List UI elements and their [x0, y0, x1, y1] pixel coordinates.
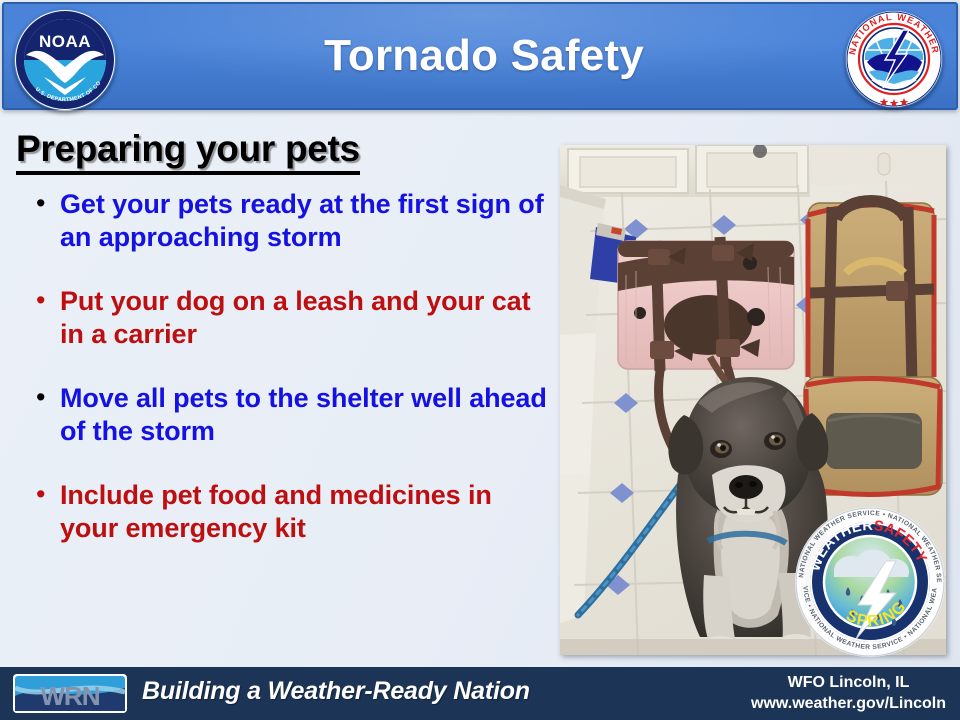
national-weather-service-logo: NATIONAL WEATHER SERVICE: [845, 10, 943, 108]
section-heading: Preparing your pets: [16, 128, 360, 175]
list-item: • Get your pets ready at the first sign …: [36, 188, 556, 254]
list-item: • Include pet food and medicines in your…: [36, 479, 556, 545]
svg-text:WRN: WRN: [40, 681, 99, 711]
footer-website[interactable]: www.weather.gov/Lincoln: [751, 693, 946, 714]
footer-office-name: WFO Lincoln, IL: [751, 672, 946, 693]
bullet-marker-icon: •: [36, 479, 60, 510]
slide-footer: WRN WRN Building a Weather-Ready Nation …: [0, 667, 960, 720]
list-item: • Move all pets to the shelter well ahea…: [36, 382, 556, 448]
svg-text:NOAA: NOAA: [39, 32, 91, 51]
slide-header: NOAA NATIONAL OCEANIC AND ATMOSPHERIC AD…: [2, 2, 958, 110]
bullet-marker-icon: •: [36, 382, 60, 413]
list-item-label: Get your pets ready at the first sign of…: [60, 188, 556, 254]
bullet-marker-icon: •: [36, 188, 60, 219]
slide: NOAA NATIONAL OCEANIC AND ATMOSPHERIC AD…: [0, 0, 960, 720]
footer-tagline: Building a Weather-Ready Nation: [142, 677, 530, 706]
list-item-label: Include pet food and medicines in your e…: [60, 479, 556, 545]
list-item-label: Move all pets to the shelter well ahead …: [60, 382, 556, 448]
noaa-logo: NOAA NATIONAL OCEANIC AND ATMOSPHERIC AD…: [14, 9, 116, 111]
bullet-list: • Get your pets ready at the first sign …: [36, 188, 556, 576]
weather-ready-nation-logo: WRN WRN: [13, 674, 127, 713]
footer-office-info: WFO Lincoln, IL www.weather.gov/Lincoln: [751, 672, 946, 714]
page-title: Tornado Safety: [164, 4, 804, 108]
bullet-marker-icon: •: [36, 285, 60, 316]
list-item-label: Put your dog on a leash and your cat in …: [60, 285, 556, 351]
list-item: • Put your dog on a leash and your cat i…: [36, 285, 556, 351]
weather-safety-spring-seal: WEATHER SAFETY SPRING NATIONAL WEATHER S…: [790, 505, 950, 660]
